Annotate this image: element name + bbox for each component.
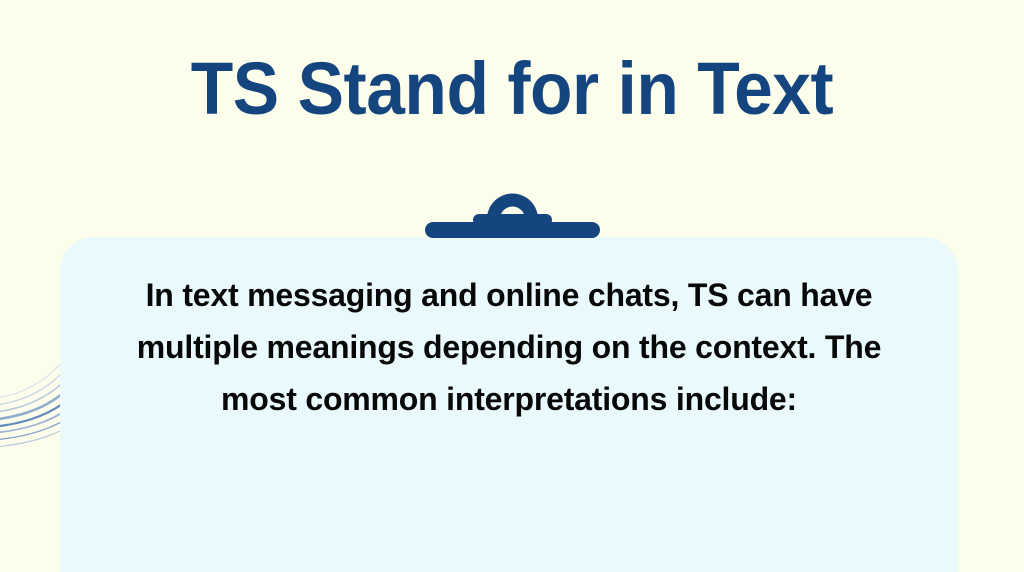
content-card: In text messaging and online chats, TS c… xyxy=(60,237,958,572)
poster-canvas: TS Stand for in Text In text messaging a… xyxy=(0,0,1024,572)
page-title: TS Stand for in Text xyxy=(31,52,994,126)
arch-handle-divider-icon xyxy=(425,192,600,238)
page-title-block: TS Stand for in Text xyxy=(0,52,1024,126)
card-body-text: In text messaging and online chats, TS c… xyxy=(99,269,919,425)
ornament-divider xyxy=(0,192,1024,238)
